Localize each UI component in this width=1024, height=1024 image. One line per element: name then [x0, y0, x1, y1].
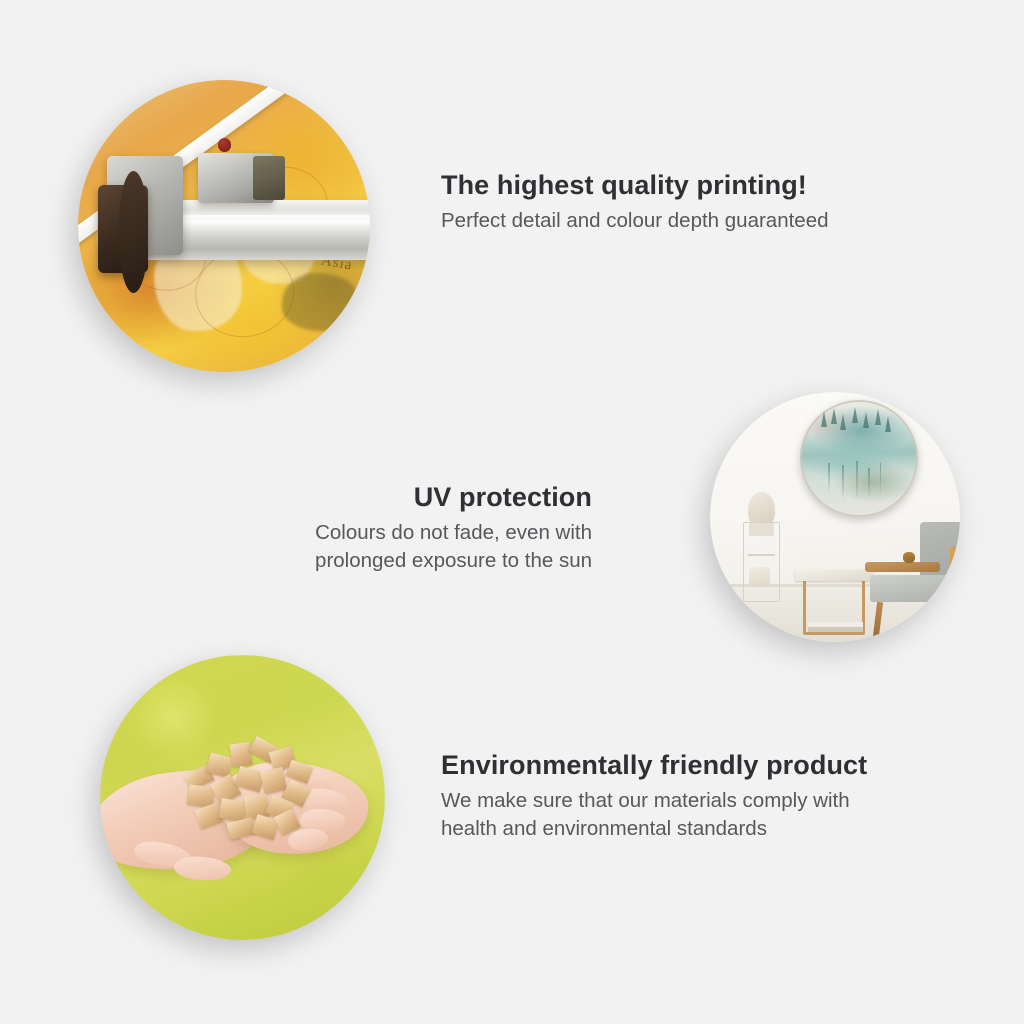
wood-chip [229, 742, 252, 768]
feature-image-eco-friendly [100, 655, 385, 940]
open-book-on-stool [795, 570, 873, 581]
books-under-stool [808, 622, 863, 632]
armchair-seat [870, 575, 955, 603]
feature-image-printing: Asia [78, 80, 370, 372]
candle [749, 567, 770, 587]
interior-photo [710, 392, 960, 642]
feature-description-eco-friendly: We make sure that our materials comply w… [441, 787, 971, 844]
feature-text-uv-protection: UV protection Colours do not fade, even … [232, 482, 592, 575]
wooden-cup [903, 552, 916, 563]
round-wall-artwork [800, 400, 918, 518]
map-landmass-asia [282, 273, 358, 331]
artwork-tree [875, 409, 881, 425]
artwork-drip [880, 463, 882, 496]
feature-description-uv-protection: Colours do not fade, even with prolonged… [232, 519, 592, 576]
feature-title-printing: The highest quality printing! [441, 170, 961, 202]
printer-carriage-shadow-part [253, 156, 285, 200]
printer-head-flange [119, 171, 148, 294]
artwork-drip [868, 468, 870, 499]
printer-red-knob [218, 138, 231, 151]
artwork-tree [852, 407, 858, 423]
feature-description-eco-line1: We make sure that our materials comply w… [441, 789, 850, 812]
armchair-armrest [865, 562, 940, 572]
artwork-tree [821, 411, 827, 427]
feature-highlights-page: Asia The highest quality printing! Perfe… [0, 0, 1024, 1024]
feature-title-uv-protection: UV protection [232, 482, 592, 514]
wood-chips-photo [100, 655, 385, 940]
feature-text-eco-friendly: Environmentally friendly product We make… [441, 750, 971, 843]
artwork-drip [856, 461, 858, 501]
feature-description-uv-line1: Colours do not fade, even with [315, 521, 592, 544]
artwork-tree [831, 408, 837, 424]
bust-sculpture [748, 492, 776, 527]
feature-description-printing: Perfect detail and colour depth guarante… [441, 207, 961, 235]
printing-photo: Asia [78, 80, 370, 372]
feature-description-uv-line2: prolonged exposure to the sun [315, 549, 592, 572]
artwork-tree [863, 412, 869, 428]
artwork-tree [885, 416, 891, 432]
artwork-drip [842, 465, 844, 500]
bust-pedestal [749, 523, 774, 536]
feature-text-printing: The highest quality printing! Perfect de… [441, 170, 961, 235]
artwork-drip [828, 463, 830, 494]
feature-image-uv-protection [710, 392, 960, 642]
artwork-tree [840, 414, 846, 430]
armchair-throw-blanket [950, 547, 960, 607]
feature-description-eco-line2: health and environmental standards [441, 817, 767, 840]
feature-title-eco-friendly: Environmentally friendly product [441, 750, 971, 782]
